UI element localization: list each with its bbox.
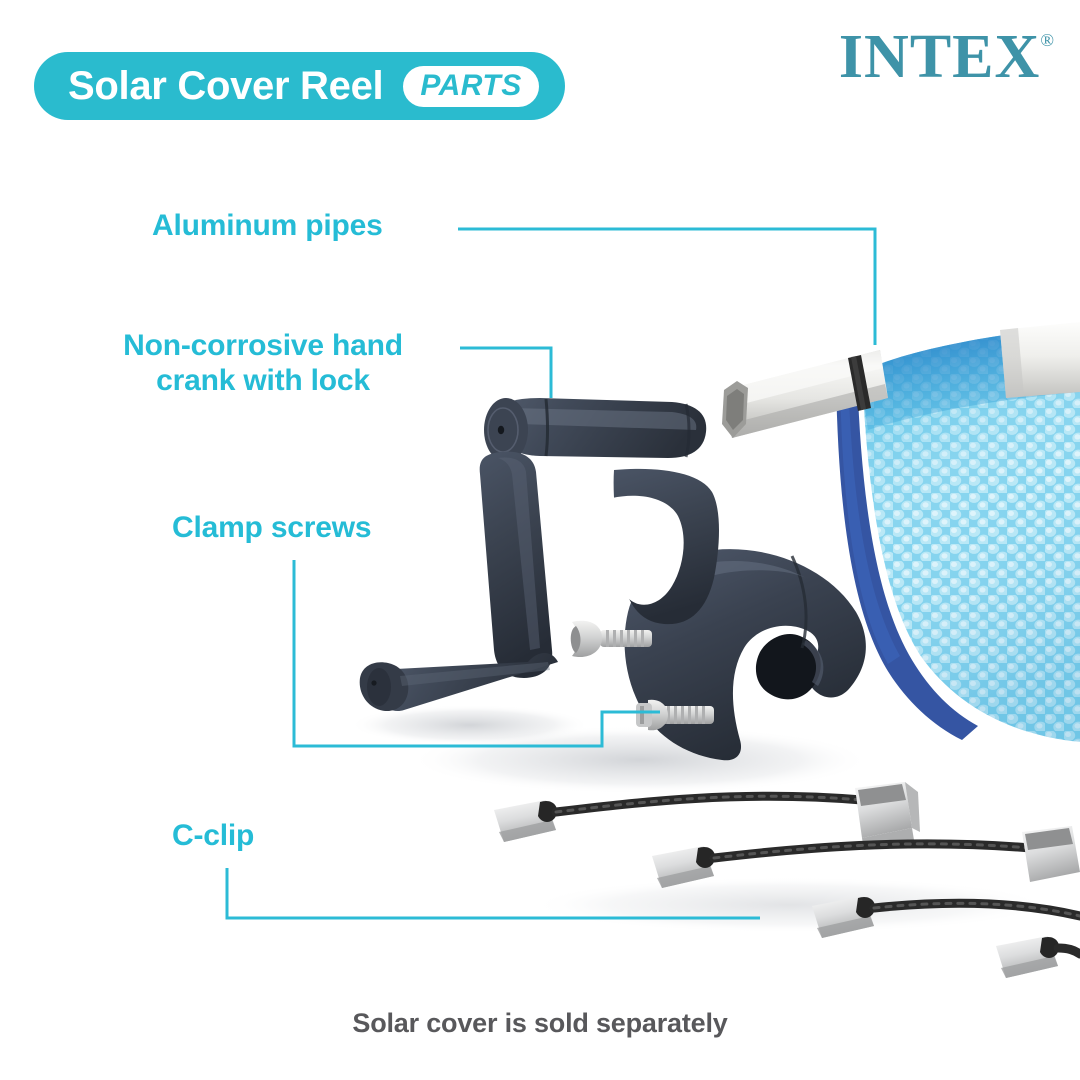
brand-name: INTEX (839, 26, 1040, 88)
registered-trademark-icon: ® (1040, 30, 1054, 51)
callout-label-clamp-screws: Clamp screws (172, 510, 371, 545)
product-photo (0, 0, 1080, 1080)
callout-label-aluminum-pipes: Aluminum pipes (152, 208, 383, 243)
parts-badge: PARTS (403, 66, 538, 107)
parts-badge-label: PARTS (420, 71, 521, 101)
footer-caption: Solar cover is sold separately (0, 1008, 1080, 1039)
title-pill: Solar Cover Reel PARTS (34, 52, 565, 120)
page-title: Solar Cover Reel (68, 66, 383, 106)
callout-label-hand-crank: Non-corrosive hand crank with lock (88, 328, 438, 399)
infographic-canvas: Solar Cover Reel PARTS INTEX ® Aluminum … (0, 0, 1080, 1080)
brand-logo: INTEX ® (839, 26, 1054, 88)
callout-label-c-clip: C-clip (172, 818, 254, 853)
